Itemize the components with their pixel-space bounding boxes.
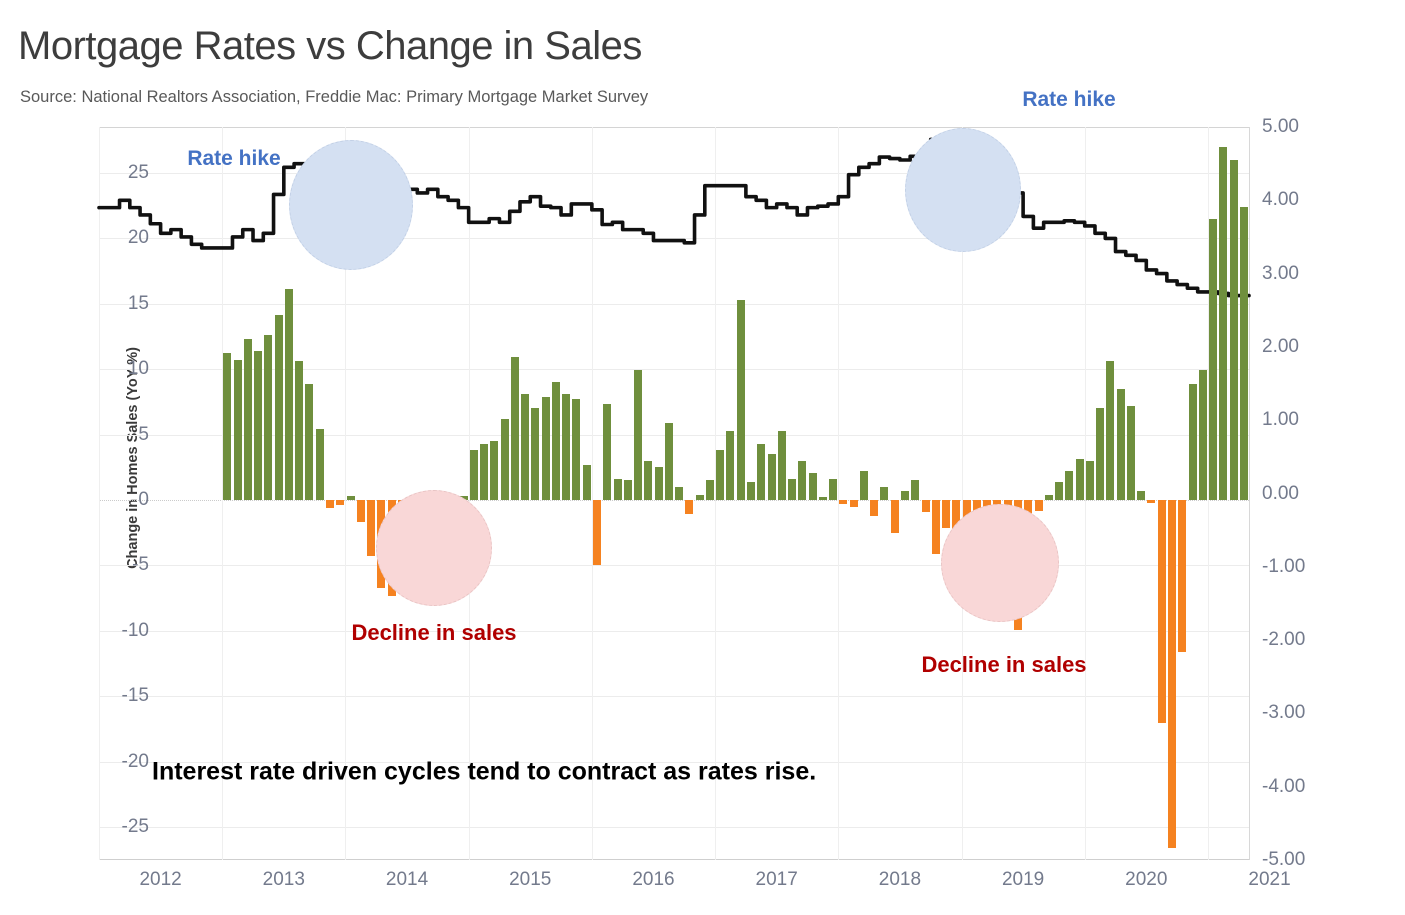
bar-data-point bbox=[1178, 500, 1186, 652]
bar-data-point bbox=[685, 500, 693, 514]
bar-data-point bbox=[614, 479, 622, 500]
bar-data-point bbox=[665, 423, 673, 500]
bar-data-point bbox=[511, 357, 519, 500]
bar-data-point bbox=[747, 482, 755, 500]
x-tick-2014: 2014 bbox=[386, 869, 428, 891]
bar-data-point bbox=[1189, 384, 1197, 500]
rate-hike-1-label: Rate hike bbox=[187, 147, 280, 171]
bar-data-point bbox=[295, 361, 303, 500]
bar-data-point bbox=[254, 351, 262, 500]
bar-data-point bbox=[726, 431, 734, 500]
bar-data-point bbox=[655, 467, 663, 500]
bar-data-point bbox=[860, 471, 868, 500]
bar-data-point bbox=[305, 384, 313, 500]
y-tick-right: -5.00 bbox=[1262, 849, 1305, 871]
y-tick-left: 15 bbox=[128, 293, 149, 315]
y-tick-right: 4.00 bbox=[1262, 189, 1299, 211]
bar-data-point bbox=[347, 496, 355, 500]
bar-data-point bbox=[583, 465, 591, 500]
bar-data-point bbox=[1086, 461, 1094, 500]
bar-data-point bbox=[357, 500, 365, 522]
x-tick-2015: 2015 bbox=[509, 869, 551, 891]
bar-data-point bbox=[839, 500, 847, 504]
x-tick-2013: 2013 bbox=[263, 869, 305, 891]
y-tick-right: -1.00 bbox=[1262, 556, 1305, 578]
bar-data-point bbox=[850, 500, 858, 507]
bar-data-point bbox=[326, 500, 334, 508]
bar-data-point bbox=[1230, 160, 1238, 500]
bar-data-point bbox=[490, 441, 498, 500]
decline-circle-1 bbox=[376, 490, 492, 606]
y-tick-right: 0.00 bbox=[1262, 483, 1299, 505]
bar-data-point bbox=[1076, 459, 1084, 500]
decline-circle-2 bbox=[941, 504, 1059, 622]
bar-data-point bbox=[1065, 471, 1073, 500]
y-tick-left: -25 bbox=[122, 816, 149, 838]
bar-data-point bbox=[264, 335, 272, 500]
chart-root: Mortgage Rates vs Change in Sales Source… bbox=[0, 0, 1405, 915]
bar-data-point bbox=[819, 497, 827, 500]
bar-data-point bbox=[1209, 219, 1217, 500]
y-tick-right: 3.00 bbox=[1262, 263, 1299, 285]
bar-data-point bbox=[757, 444, 765, 500]
bar-data-point bbox=[1240, 207, 1248, 500]
hike-circle-2 bbox=[905, 128, 1021, 252]
x-tick-2012: 2012 bbox=[139, 869, 181, 891]
bar-data-point bbox=[234, 360, 242, 500]
bar-data-point bbox=[1219, 147, 1227, 500]
y-tick-left: -15 bbox=[122, 685, 149, 707]
bar-data-point bbox=[809, 473, 817, 500]
bar-data-point bbox=[932, 500, 940, 554]
bar-data-point bbox=[603, 404, 611, 500]
bar-data-point bbox=[778, 431, 786, 500]
y-tick-left: -5 bbox=[132, 554, 149, 576]
bar-data-point bbox=[706, 480, 714, 500]
bar-data-point bbox=[593, 500, 601, 565]
x-tick-2017: 2017 bbox=[756, 869, 798, 891]
bar-data-point bbox=[1106, 361, 1114, 500]
hike-circle-1 bbox=[289, 140, 413, 270]
y-tick-left: 0 bbox=[138, 489, 149, 511]
x-tick-2018: 2018 bbox=[879, 869, 921, 891]
y-axis-right-line bbox=[1249, 127, 1250, 860]
bar-data-point bbox=[1137, 491, 1145, 500]
bar-data-point bbox=[880, 487, 888, 500]
bar-data-point bbox=[716, 450, 724, 500]
bar-data-point bbox=[1055, 482, 1063, 500]
bar-data-point bbox=[1158, 500, 1166, 723]
bar-data-point bbox=[336, 500, 344, 505]
bar-data-point bbox=[367, 500, 375, 556]
bar-data-point bbox=[1117, 389, 1125, 500]
plot-area bbox=[99, 127, 1249, 860]
y-tick-left: 25 bbox=[128, 162, 149, 184]
decline-sales-1-label: Decline in sales bbox=[351, 620, 516, 646]
y-tick-left: 10 bbox=[128, 358, 149, 380]
y-tick-right: 1.00 bbox=[1262, 409, 1299, 431]
chart-takeaway-caption: Interest rate driven cycles tend to cont… bbox=[152, 758, 816, 787]
bar-data-point bbox=[316, 429, 324, 500]
y-tick-left: -20 bbox=[122, 751, 149, 773]
bar-data-point bbox=[644, 461, 652, 500]
bar-data-point bbox=[552, 382, 560, 500]
y-tick-left: -10 bbox=[122, 620, 149, 642]
bar-data-point bbox=[901, 491, 909, 500]
bar-data-point bbox=[572, 399, 580, 500]
rate-hike-2-label: Rate hike bbox=[1022, 88, 1115, 112]
bar-data-point bbox=[891, 500, 899, 533]
bar-data-point bbox=[942, 500, 950, 527]
bar-data-point bbox=[223, 353, 231, 500]
y-tick-left: 20 bbox=[128, 227, 149, 249]
bar-data-point bbox=[922, 500, 930, 512]
bar-data-point bbox=[911, 480, 919, 500]
x-tick-2021: 2021 bbox=[1248, 869, 1290, 891]
bar-data-point bbox=[768, 454, 776, 500]
bar-data-point bbox=[1168, 500, 1176, 848]
bar-data-point bbox=[624, 480, 632, 500]
page-title: Mortgage Rates vs Change in Sales bbox=[18, 24, 642, 69]
bar-data-point bbox=[696, 495, 704, 500]
bar-data-point bbox=[562, 394, 570, 500]
bar-data-point bbox=[788, 479, 796, 500]
x-tick-2020: 2020 bbox=[1125, 869, 1167, 891]
chart-source-caption: Source: National Realtors Association, F… bbox=[20, 88, 648, 107]
bar-data-point bbox=[542, 397, 550, 500]
bar-data-point bbox=[521, 394, 529, 500]
bar-data-point bbox=[798, 461, 806, 500]
y-tick-right: 5.00 bbox=[1262, 116, 1299, 138]
y-tick-right: -3.00 bbox=[1262, 702, 1305, 724]
bar-data-point bbox=[1035, 500, 1043, 510]
bar-data-point bbox=[501, 419, 509, 500]
y-tick-left: 5 bbox=[138, 424, 149, 446]
decline-sales-2-label: Decline in sales bbox=[921, 652, 1086, 678]
bar-data-point bbox=[1096, 408, 1104, 500]
bar-data-point bbox=[480, 444, 488, 500]
bar-data-point bbox=[1199, 370, 1207, 500]
bar-data-point bbox=[634, 370, 642, 500]
x-tick-2019: 2019 bbox=[1002, 869, 1044, 891]
y-tick-right: -2.00 bbox=[1262, 629, 1305, 651]
bar-data-point bbox=[1045, 495, 1053, 500]
bar-data-point bbox=[870, 500, 878, 516]
bar-data-point bbox=[829, 479, 837, 500]
bar-data-point bbox=[275, 315, 283, 500]
y-tick-right: -4.00 bbox=[1262, 776, 1305, 798]
bar-data-point bbox=[531, 408, 539, 500]
y-tick-right: 2.00 bbox=[1262, 336, 1299, 358]
bar-data-point bbox=[1147, 500, 1155, 503]
bar-data-point bbox=[470, 450, 478, 500]
bar-data-point bbox=[737, 300, 745, 500]
bar-data-point bbox=[675, 487, 683, 500]
bar-data-point bbox=[244, 339, 252, 500]
bar-data-point bbox=[285, 289, 293, 500]
x-tick-2016: 2016 bbox=[632, 869, 674, 891]
bar-data-point bbox=[1127, 406, 1135, 500]
